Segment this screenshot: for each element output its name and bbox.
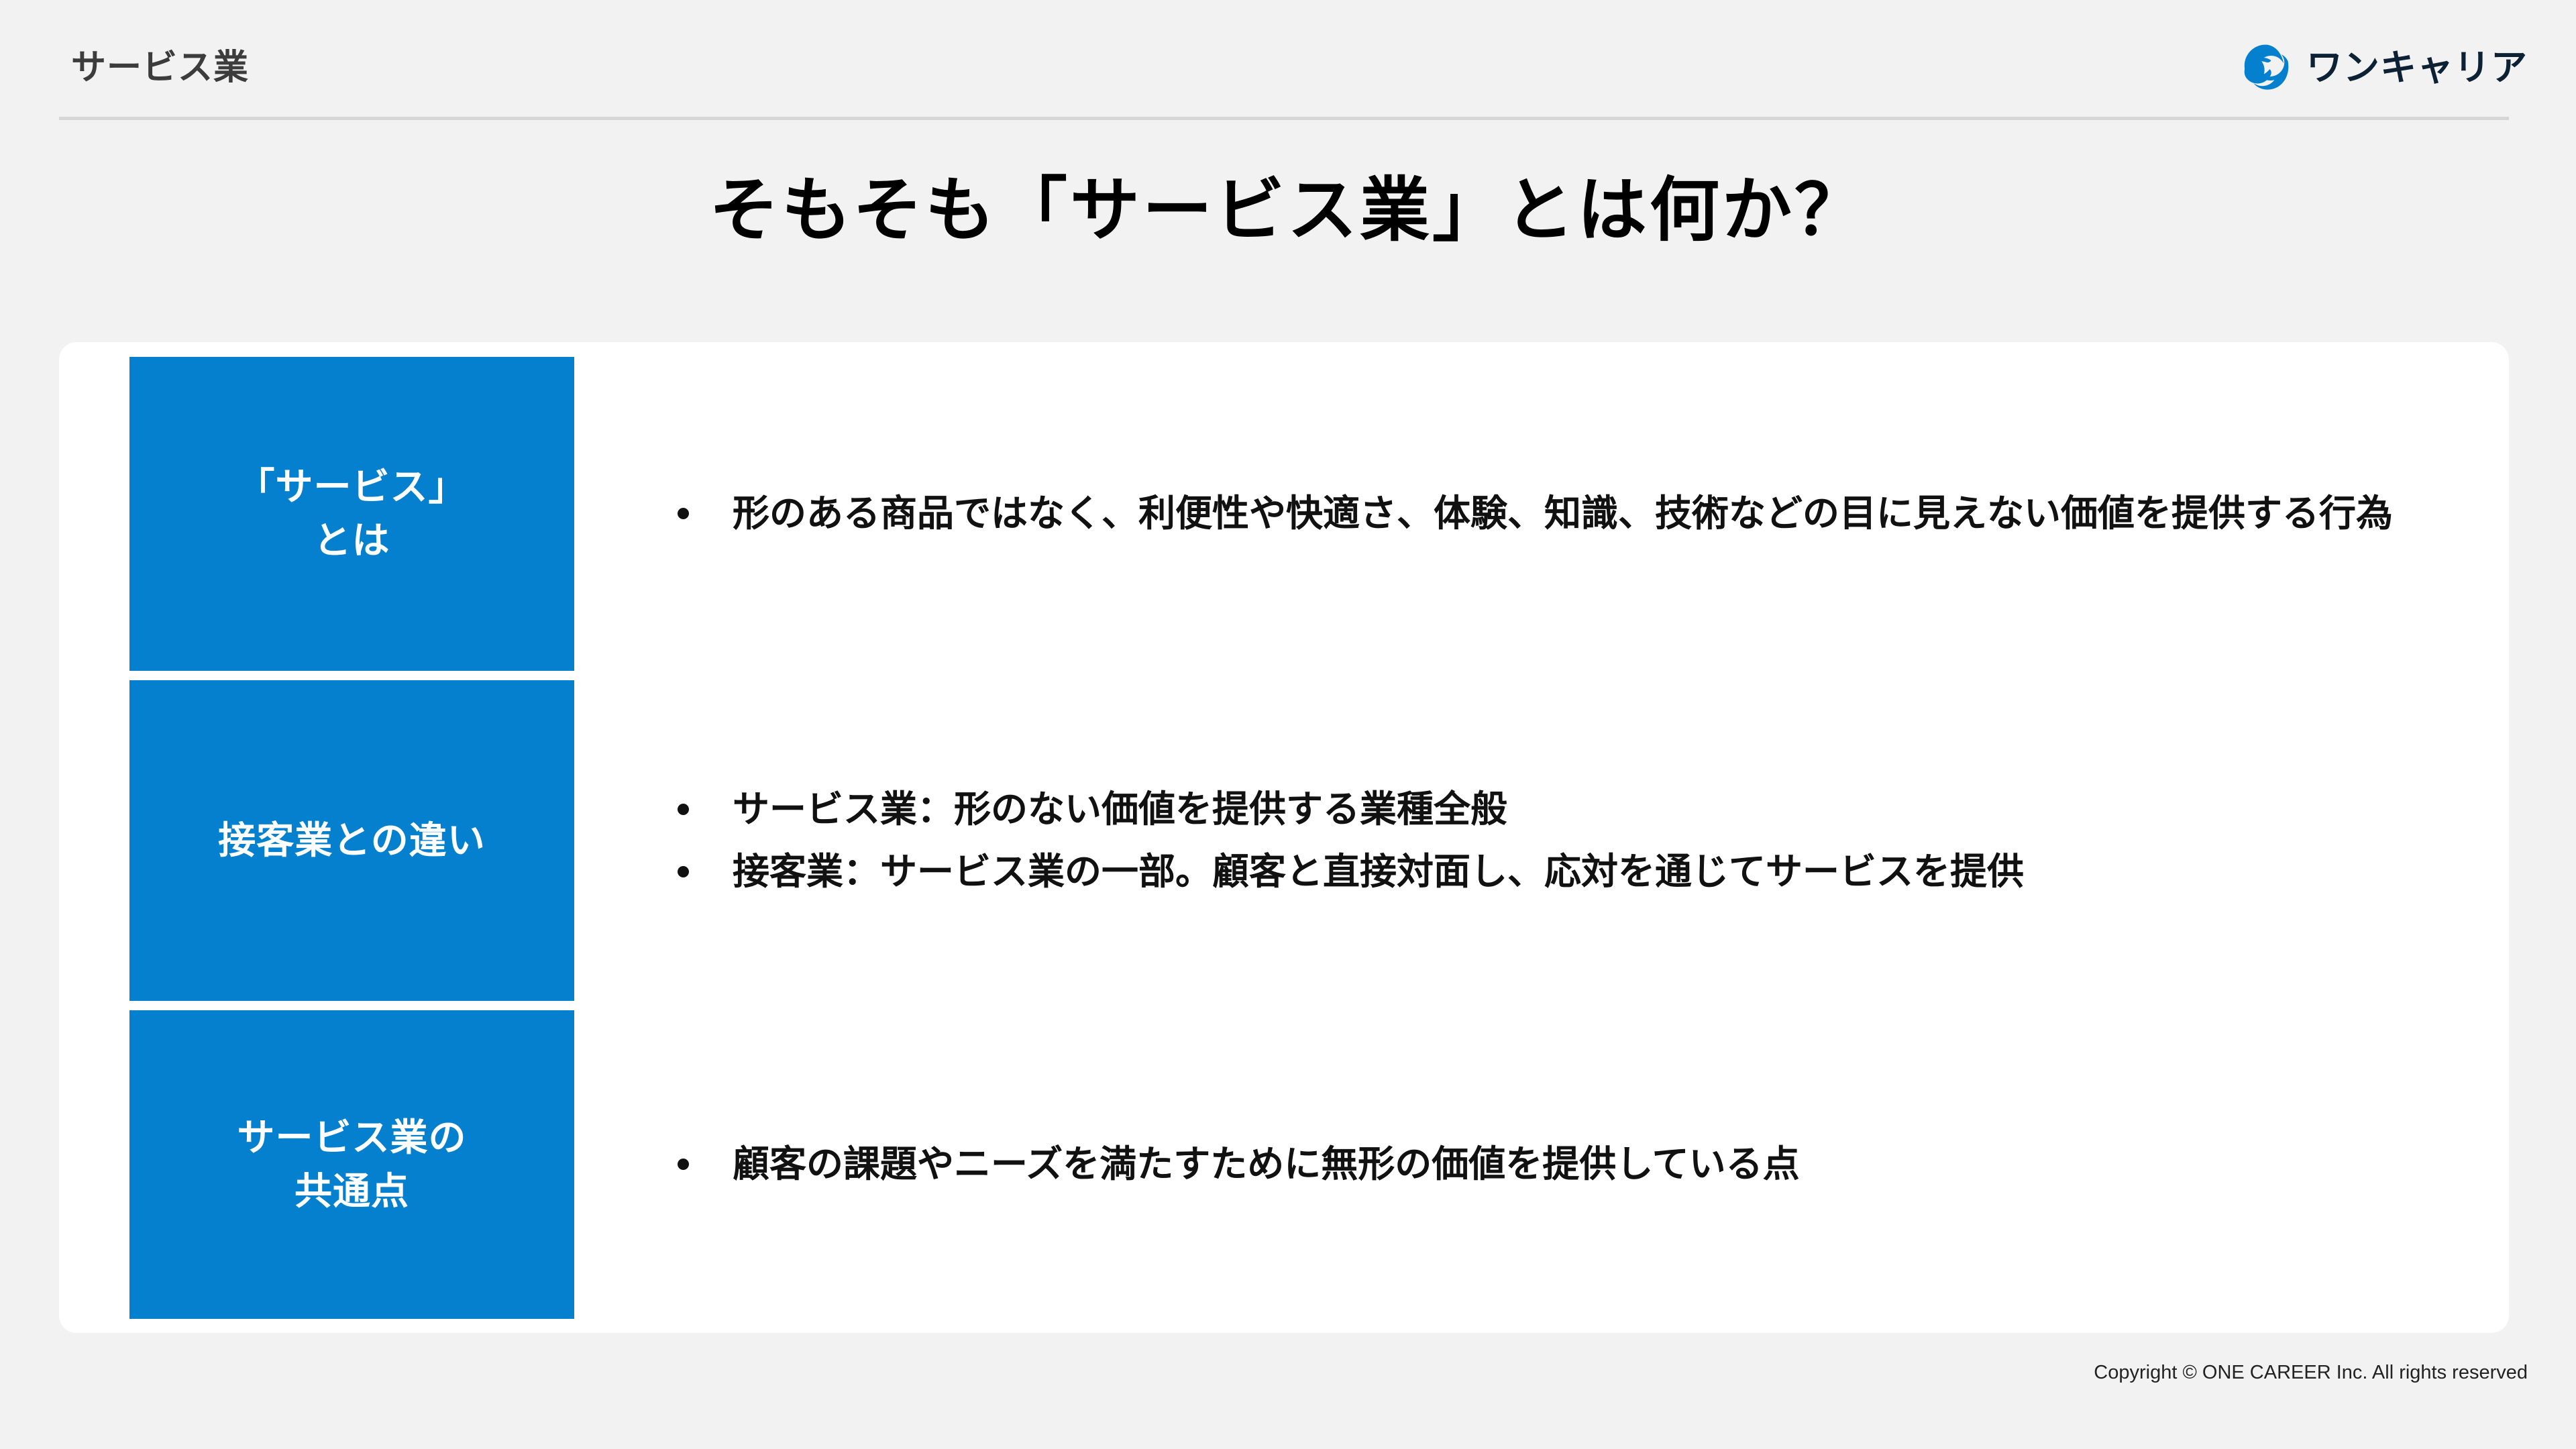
section-label-line1: サービス業の — [237, 1116, 467, 1159]
section-label-hospitality-difference: 接客業との違い — [129, 680, 574, 1001]
section-row-common-points: サービス業の 共通点 顧客の課題やニーズを満たすために無形の価値を提供している点 — [129, 1010, 2464, 1319]
section-label-line1: 接客業との違い — [218, 819, 485, 861]
list-item: 接客業：サービス業の一部。顧客と直接対面し、応対を通じてサービスを提供 — [674, 845, 2457, 898]
list-item: サービス業：形のない価値を提供する業種全般 — [674, 783, 2457, 836]
breadcrumb: サービス業 — [71, 39, 249, 89]
slide-root: サービス業 ワンキャリア そもそも「サービス業」とは何か？ 「サービス」 — [0, 0, 2576, 1449]
bullet-text: 接客業：サービス業の一部。顧客と直接対面し、応対を通じてサービスを提供 — [733, 845, 2457, 898]
section-label-line2: 共通点 — [294, 1170, 409, 1212]
section-bullets-hospitality-difference: サービス業：形のない価値を提供する業種全般 接客業：サービス業の一部。顧客と直接… — [574, 680, 2464, 1001]
section-bullets-service-definition: 形のある商品ではなく、利便性や快適さ、体験、知識、技術などの目に見えない価値を提… — [574, 357, 2464, 671]
section-label-line2: とは — [314, 519, 390, 561]
content-card: 「サービス」 とは 形のある商品ではなく、利便性や快適さ、体験、知識、技術などの… — [59, 342, 2509, 1333]
list-item: 形のある商品ではなく、利便性や快適さ、体験、知識、技術などの目に見えない価値を提… — [674, 487, 2457, 540]
section-list: 「サービス」 とは 形のある商品ではなく、利便性や快適さ、体験、知識、技術などの… — [129, 357, 2464, 1319]
section-row-service-definition: 「サービス」 とは 形のある商品ではなく、利便性や快適さ、体験、知識、技術などの… — [129, 357, 2464, 671]
logo-wordmark: ワンキャリア — [2306, 50, 2528, 86]
one-career-swirl-icon — [2239, 42, 2292, 94]
bullet-text: サービス業：形のない価値を提供する業種全般 — [733, 783, 2457, 836]
bullet-text: 形のある商品ではなく、利便性や快適さ、体験、知識、技術などの目に見えない価値を提… — [733, 487, 2457, 540]
section-bullets-common-points: 顧客の課題やニーズを満たすために無形の価値を提供している点 — [574, 1010, 2464, 1319]
section-row-hospitality-difference: 接客業との違い サービス業：形のない価値を提供する業種全般 接客業：サービス業の… — [129, 680, 2464, 1001]
copyright-notice: Copyright © ONE CAREER Inc. All rights r… — [2094, 1362, 2528, 1384]
section-label-line1: 「サービス」 — [237, 466, 467, 508]
header-divider — [59, 117, 2509, 120]
slide-header: サービス業 — [59, 39, 2509, 119]
bullet-text: 顧客の課題やニーズを満たすために無形の価値を提供している点 — [733, 1138, 2457, 1191]
page-title: そもそも「サービス業」とは何か？ — [0, 153, 2576, 254]
section-label-common-points: サービス業の 共通点 — [129, 1010, 574, 1319]
section-label-service-definition: 「サービス」 とは — [129, 357, 574, 671]
list-item: 顧客の課題やニーズを満たすために無形の価値を提供している点 — [674, 1138, 2457, 1191]
brand-logo: ワンキャリア — [2239, 39, 2528, 97]
